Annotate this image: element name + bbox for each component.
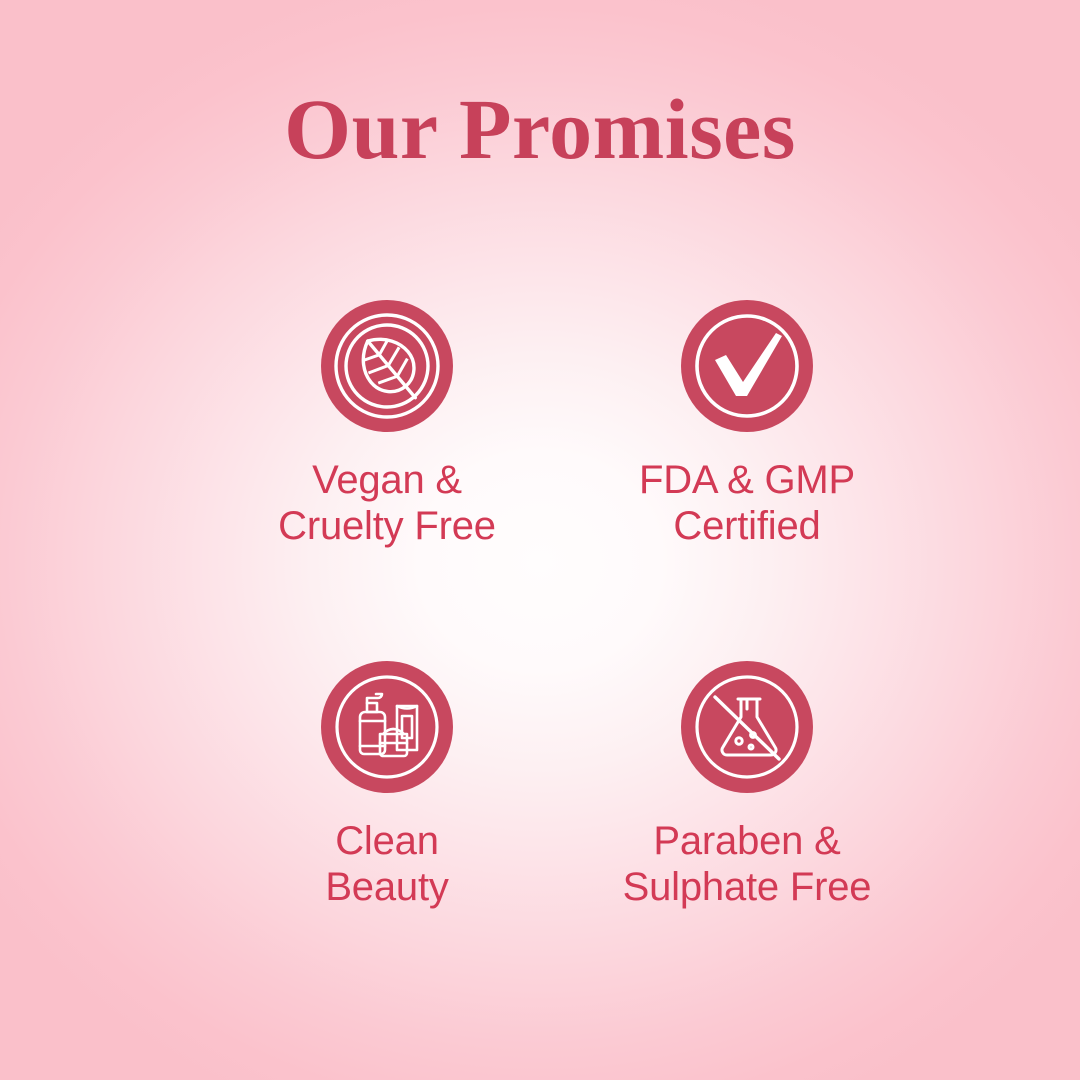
page-title-container: Our Promises	[0, 84, 1080, 174]
promise-label: Paraben & Sulphate Free	[623, 819, 872, 910]
promise-label: FDA & GMP Certified	[639, 458, 855, 549]
promise-item-vegan-cruelty-free: Vegan & Cruelty Free	[170, 300, 572, 549]
checkmark-circle-icon	[681, 300, 813, 432]
cosmetic-bottles-icon	[321, 661, 453, 793]
leaf-circle-icon	[321, 300, 453, 432]
promise-item-clean-beauty: Clean Beauty	[170, 661, 572, 910]
promises-poster: Our Promises	[0, 0, 1080, 1080]
page-title: Our Promises	[284, 84, 796, 174]
promise-label: Vegan & Cruelty Free	[278, 458, 496, 549]
promise-item-fda-gmp-certified: FDA & GMP Certified	[540, 300, 932, 549]
promises-grid: Vegan & Cruelty Free FDA & GMP Certified	[170, 300, 910, 910]
no-chemicals-flask-icon	[681, 661, 813, 793]
promise-item-paraben-sulphate-free: Paraben & Sulphate Free	[540, 661, 932, 910]
promise-label: Clean Beauty	[325, 819, 448, 910]
